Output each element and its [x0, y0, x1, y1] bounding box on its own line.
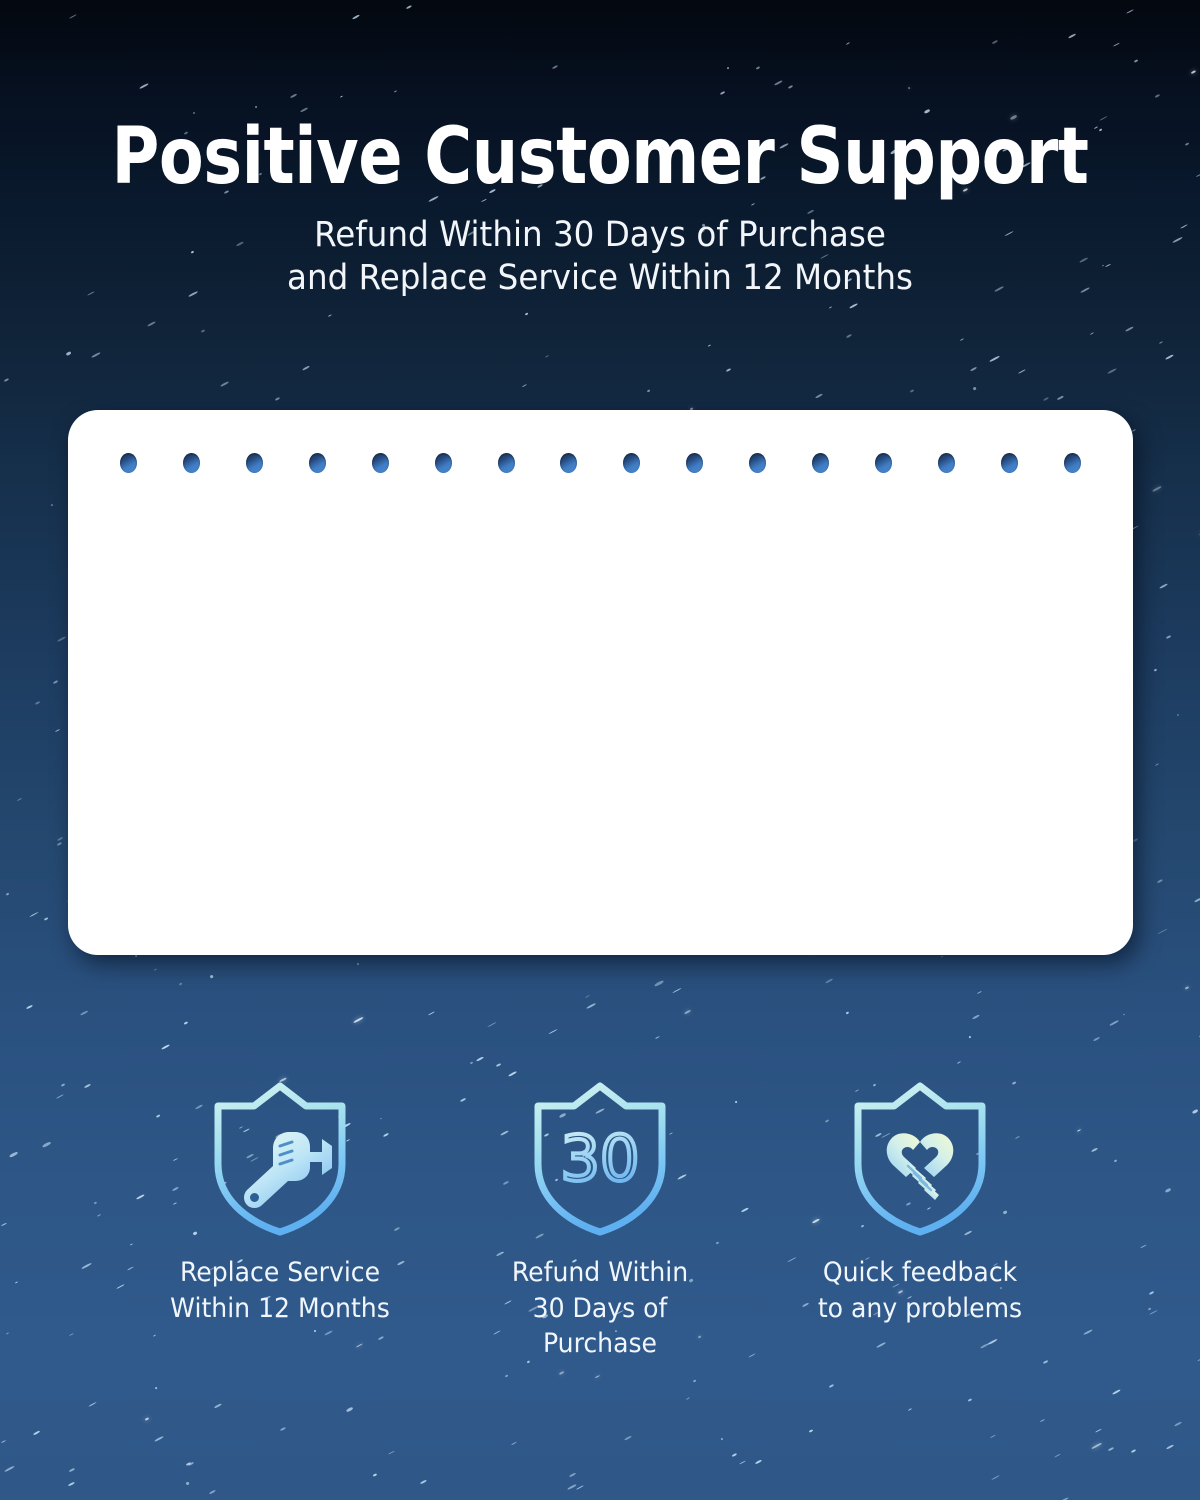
binder-dot — [623, 453, 640, 473]
binder-dot — [498, 453, 515, 473]
feature-label: Quick feedback to any problems — [799, 1255, 1041, 1326]
binder-dot — [686, 453, 703, 473]
subtitle-line-2: and Replace Service Within 12 Months — [42, 257, 1158, 300]
feature-item-refund-30-days: 30 Refund Within 30 Days of Purchase — [470, 1075, 730, 1362]
shield-wrench-icon — [150, 1075, 410, 1243]
feature-list: Replace Service Within 12 Months — [150, 1075, 1050, 1362]
feature-item-quick-feedback: Quick feedback to any problems — [790, 1075, 1050, 1362]
shield-handshake-icon — [790, 1075, 1050, 1243]
binder-dot — [183, 453, 200, 473]
calendar-binder-dots — [120, 452, 1081, 474]
binder-dot — [1064, 453, 1081, 473]
shield-30-days-icon: 30 — [470, 1075, 730, 1243]
binder-dot — [560, 453, 577, 473]
binder-dot — [309, 453, 326, 473]
binder-dot — [938, 453, 955, 473]
binder-dot — [120, 453, 137, 473]
binder-dot — [875, 453, 892, 473]
binder-dot — [1001, 453, 1018, 473]
page-title: Positive Customer Support — [42, 118, 1158, 196]
binder-dot — [435, 453, 452, 473]
shield-badge-number: 30 — [561, 1122, 640, 1195]
subtitle-line-1: Refund Within 30 Days of Purchase — [42, 214, 1158, 257]
binder-dot — [749, 453, 766, 473]
feature-label: Replace Service Within 12 Months — [159, 1255, 401, 1326]
page-subtitle: Refund Within 30 Days of Purchase and Re… — [42, 214, 1158, 301]
binder-dot — [246, 453, 263, 473]
header: Positive Customer Support Refund Within … — [0, 118, 1200, 301]
promo-banner: Positive Customer Support Refund Within … — [0, 0, 1200, 1500]
binder-dot — [372, 453, 389, 473]
calendar-card — [68, 410, 1133, 955]
binder-dot — [812, 453, 829, 473]
feature-label: Refund Within 30 Days of Purchase — [479, 1255, 721, 1362]
feature-item-replace-service: Replace Service Within 12 Months — [150, 1075, 410, 1362]
